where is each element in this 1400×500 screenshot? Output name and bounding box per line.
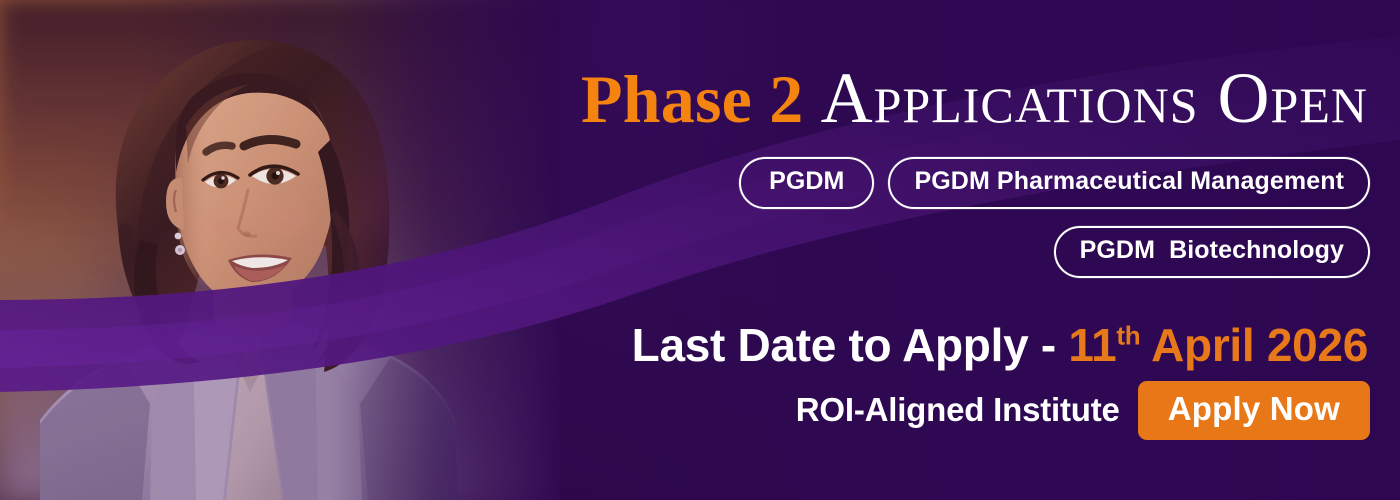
program-pill-row-1: PGDM PGDM Pharmaceutical Management xyxy=(739,157,1370,209)
cta-row: ROI-Aligned Institute Apply Now xyxy=(796,381,1370,440)
apply-now-button[interactable]: Apply Now xyxy=(1138,381,1370,440)
deadline-day: 11 xyxy=(1068,319,1116,371)
deadline-ordinal: th xyxy=(1116,321,1140,351)
deadline-text: Last Date to Apply - 11th April 2026 xyxy=(632,318,1368,372)
deadline-month-year: April 2026 xyxy=(1140,319,1368,371)
program-pill-biotechnology[interactable]: PGDM Biotechnology xyxy=(1054,226,1370,278)
program-pill-pgdm[interactable]: PGDM xyxy=(739,157,874,209)
program-pill-pharmaceutical-management[interactable]: PGDM Pharmaceutical Management xyxy=(888,157,1370,209)
program-pill-row-2: PGDM Biotechnology xyxy=(1054,226,1370,278)
admissions-banner: Phase 2 Applications Open PGDM PGDM Phar… xyxy=(0,0,1400,500)
banner-content: Phase 2 Applications Open PGDM PGDM Phar… xyxy=(0,0,1400,500)
page-title: Phase 2 Applications Open xyxy=(581,62,1368,134)
deadline-prefix: Last Date to Apply - xyxy=(632,319,1069,371)
tagline: ROI-Aligned Institute xyxy=(796,391,1120,429)
headline-highlight: Phase 2 xyxy=(581,61,803,137)
headline-rest: Applications Open xyxy=(821,58,1368,138)
